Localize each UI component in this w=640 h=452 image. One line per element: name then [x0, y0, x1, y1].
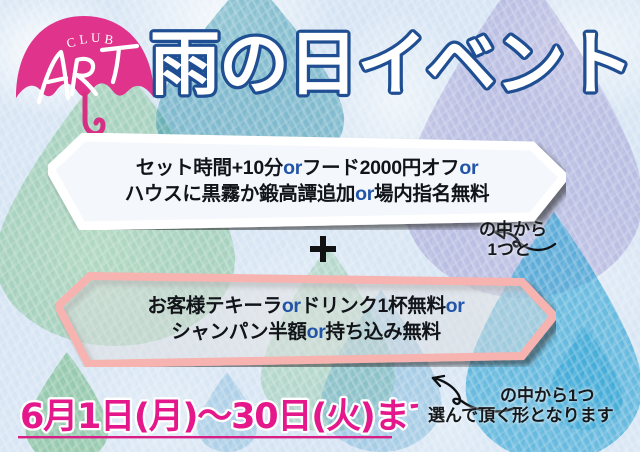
- note-bottom-line2: 選んで頂く形となります: [428, 406, 614, 426]
- club-art-umbrella-logo: C L U B: [6, 2, 166, 144]
- event-date-range: 6月1日(月)〜30日(火)まで！: [18, 392, 418, 446]
- offer-banner-primary-text: セット時間+10分orフード2000円オフor ハウスに黒霧か鍛高譚追加or場内…: [125, 156, 490, 207]
- offer-line-3: お客様テキーラorドリンク1杯無料or: [147, 294, 464, 319]
- offer-banner-primary: セット時間+10分orフード2000円オフor ハウスに黒霧か鍛高譚追加or場内…: [48, 133, 566, 230]
- offer2-text-b: 場内指名無料: [374, 183, 489, 205]
- offer3-text-b: ドリンク1杯無料: [301, 295, 446, 317]
- svg-text:L: L: [78, 31, 90, 47]
- note-top-line2: 1つと: [479, 240, 547, 260]
- poster-root: C L U B 雨の日イベント: [0, 0, 640, 452]
- offer3-or-2: or: [446, 295, 465, 317]
- plus-icon: [308, 234, 338, 264]
- offer-line-1: セット時間+10分orフード2000円オフor: [125, 156, 490, 181]
- offer4-or-1: or: [307, 321, 326, 343]
- offer-line-2: ハウスに黒霧か鍛高譚追加or場内指名無料: [125, 182, 490, 207]
- event-date-range-text: 6月1日(月)〜30日(火)まで！: [20, 397, 418, 437]
- offer-banner-secondary: お客様テキーラorドリンク1杯無料or シャンパン半額or持ち込み無料: [56, 272, 556, 367]
- annotation-choose-one: の中から1つ 選んで頂く形となります: [500, 386, 614, 426]
- offer3-text-a: お客様テキーラ: [147, 295, 281, 317]
- svg-text:U: U: [91, 30, 103, 45]
- offer-line-4: シャンパン半額or持ち込み無料: [147, 320, 464, 345]
- offer1-text-b: フード2000円オフ: [302, 157, 459, 179]
- annotation-choose-one-and: の中から 1つと: [479, 220, 547, 260]
- page-title: 雨の日イベント: [148, 17, 632, 109]
- offer2-or-1: or: [355, 183, 374, 205]
- date-underline: [18, 436, 392, 438]
- svg-text:B: B: [104, 31, 117, 48]
- offer3-or-1: or: [282, 295, 301, 317]
- note-top-line1: の中から: [479, 220, 547, 239]
- offer1-or-2: or: [459, 157, 478, 179]
- offer1-text-a: セット時間+10分: [136, 157, 283, 179]
- page-title-text: 雨の日イベント: [150, 23, 632, 105]
- offer4-text-a: シャンパン半額: [171, 321, 306, 343]
- offer4-text-b: 持ち込み無料: [326, 321, 441, 343]
- offer2-text-a: ハウスに黒霧か鍛高譚追加: [125, 183, 355, 205]
- offer1-or-1: or: [283, 157, 302, 179]
- offer-banner-secondary-text: お客様テキーラorドリンク1杯無料or シャンパン半額or持ち込み無料: [147, 294, 464, 345]
- umbrella-handle: [85, 120, 103, 134]
- note-bottom-line1: の中から1つ: [500, 386, 594, 405]
